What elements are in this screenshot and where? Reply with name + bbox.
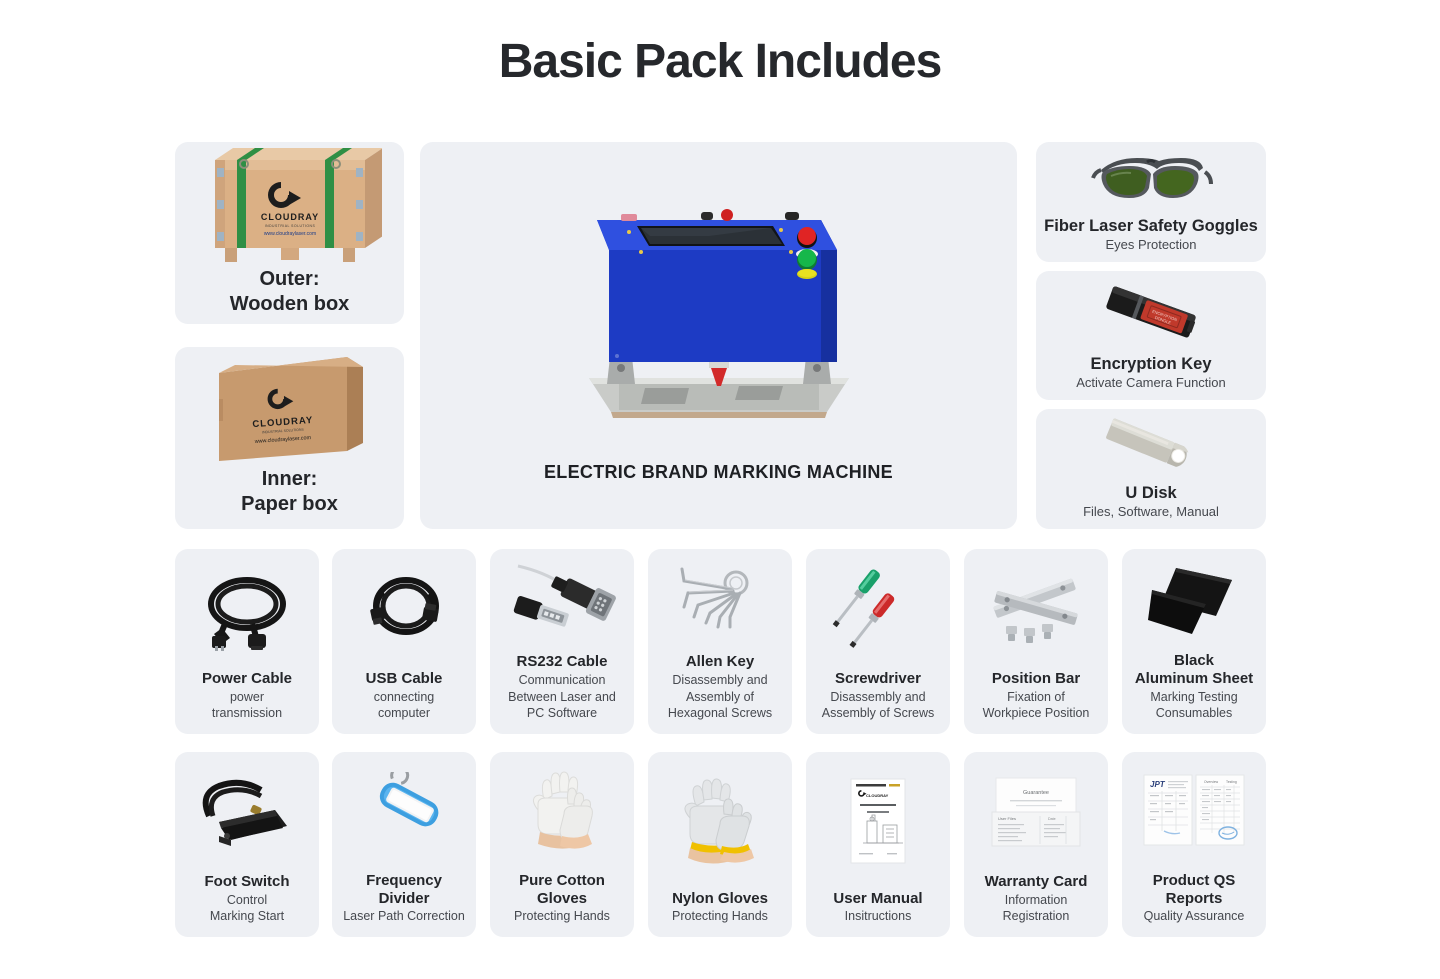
rs232-cable-title: RS232 Cable xyxy=(496,653,628,671)
position-bar-sub1: Fixation of xyxy=(970,690,1102,706)
svg-text:Overview: Overview xyxy=(1204,780,1219,784)
position-bar-sub2: Workpiece Position xyxy=(970,706,1102,722)
foot-switch-sub1: Control xyxy=(181,893,313,909)
card-pure-cotton-gloves[interactable]: Pure Cotton Gloves Protecting Hands xyxy=(490,752,634,937)
card-product-qs-reports[interactable]: JPT Overview Testing xyxy=(1122,752,1266,937)
rs232-cable-sub1: Communication xyxy=(496,673,628,689)
card-inner-paper-box[interactable]: CLOUDRAY INDUSTRIAL SOLUTIONS www.cloudr… xyxy=(175,347,404,529)
svg-text:User Files: User Files xyxy=(998,816,1016,821)
svg-text:JPT: JPT xyxy=(1150,780,1166,789)
pure-cotton-gloves-title-line2: Gloves xyxy=(496,890,628,908)
svg-text:INDUSTRIAL SOLUTIONS: INDUSTRIAL SOLUTIONS xyxy=(265,224,316,228)
black-aluminum-sheet-sub2: Consumables xyxy=(1128,706,1260,722)
product-qs-reports-title-line2: Reports xyxy=(1128,890,1260,908)
card-user-manual[interactable]: CLOUDRAY User Manual Insitructions xyxy=(806,752,950,937)
encryption-key-caption: Encryption Key Activate Camera Function xyxy=(1036,354,1266,401)
user-manual-image: CLOUDRAY xyxy=(806,752,950,890)
card-rs232-cable[interactable]: RS232 Cable Communication Between Laser … xyxy=(490,549,634,734)
page-title: Basic Pack Includes xyxy=(0,34,1440,89)
pure-cotton-gloves-image xyxy=(490,752,634,872)
card-nylon-gloves[interactable]: Nylon Gloves Protecting Hands xyxy=(648,752,792,937)
encryption-key-subtitle: Activate Camera Function xyxy=(1042,375,1260,391)
foot-switch-caption: Foot Switch Control Marking Start xyxy=(175,873,319,937)
inner-paper-box-title-line2: Paper box xyxy=(181,492,398,517)
allen-key-sub3: Hexagonal Screws xyxy=(654,706,786,722)
svg-text:Date: Date xyxy=(1048,817,1056,821)
power-cable-sub2: transmission xyxy=(181,706,313,722)
allen-key-caption: Allen Key Disassembly and Assembly of He… xyxy=(648,653,792,734)
frequency-divider-title-line1: Frequency xyxy=(338,872,470,890)
user-manual-sub1: Insitructions xyxy=(812,909,944,925)
usb-cable-image xyxy=(332,549,476,670)
svg-text:Testing: Testing xyxy=(1226,780,1237,784)
foot-switch-image xyxy=(175,752,319,873)
outer-wooden-box-title-line2: Wooden box xyxy=(181,292,398,317)
card-encryption-key[interactable]: ENCRYPTION DONGLE Encryption Key Activat… xyxy=(1036,271,1266,400)
rs232-cable-caption: RS232 Cable Communication Between Laser … xyxy=(490,653,634,734)
basic-pack-includes-page: Basic Pack Includes xyxy=(0,0,1440,979)
card-frequency-divider[interactable]: Frequency Divider Laser Path Correction xyxy=(332,752,476,937)
usb-cable-sub2: computer xyxy=(338,706,470,722)
product-qs-reports-caption: Product QS Reports Quality Assurance xyxy=(1122,872,1266,937)
frequency-divider-title-line2: Divider xyxy=(338,890,470,908)
power-cable-sub1: power xyxy=(181,690,313,706)
foot-switch-sub2: Marking Start xyxy=(181,909,313,925)
product-qs-reports-sub1: Quality Assurance xyxy=(1128,909,1260,925)
power-cable-image xyxy=(175,549,319,670)
encryption-key-title: Encryption Key xyxy=(1042,354,1260,374)
pure-cotton-gloves-title-line1: Pure Cotton xyxy=(496,872,628,890)
u-disk-image xyxy=(1036,409,1266,483)
inner-paper-box-title-line1: Inner: xyxy=(181,467,398,492)
foot-switch-title: Foot Switch xyxy=(181,873,313,891)
allen-key-sub2: Assembly of xyxy=(654,690,786,706)
card-u-disk[interactable]: U Disk Files, Software, Manual xyxy=(1036,409,1266,529)
inner-paper-box-caption: Inner: Paper box xyxy=(175,467,404,531)
card-power-cable[interactable]: Power Cable power transmission xyxy=(175,549,319,734)
position-bar-image xyxy=(964,549,1108,670)
black-aluminum-sheet-sub1: Marking Testing xyxy=(1128,690,1260,706)
rs232-cable-sub2: Between Laser and xyxy=(496,690,628,706)
warranty-card-sub2: Registration xyxy=(970,909,1102,925)
screwdriver-caption: Screwdriver Disassembly and Assembly of … xyxy=(806,670,950,734)
u-disk-caption: U Disk Files, Software, Manual xyxy=(1036,483,1266,530)
card-fiber-laser-safety-goggles[interactable]: Fiber Laser Safety Goggles Eyes Protecti… xyxy=(1036,142,1266,262)
pure-cotton-gloves-caption: Pure Cotton Gloves Protecting Hands xyxy=(490,872,634,937)
card-position-bar[interactable]: Position Bar Fixation of Workpiece Posit… xyxy=(964,549,1108,734)
frequency-divider-image xyxy=(332,752,476,872)
power-cable-caption: Power Cable power transmission xyxy=(175,670,319,734)
card-foot-switch[interactable]: Foot Switch Control Marking Start xyxy=(175,752,319,937)
frequency-divider-sub1: Laser Path Correction xyxy=(338,909,470,925)
nylon-gloves-caption: Nylon Gloves Protecting Hands xyxy=(648,890,792,937)
screwdriver-sub1: Disassembly and xyxy=(812,690,944,706)
black-aluminum-sheet-title-line1: Black xyxy=(1128,652,1260,670)
black-aluminum-sheet-image xyxy=(1122,549,1266,652)
card-warranty-card[interactable]: Guarantee User Files Date xyxy=(964,752,1108,937)
screwdriver-image xyxy=(806,549,950,670)
allen-key-image xyxy=(648,549,792,653)
usb-cable-sub1: connecting xyxy=(338,690,470,706)
nylon-gloves-title: Nylon Gloves xyxy=(654,890,786,908)
card-screwdriver[interactable]: Screwdriver Disassembly and Assembly of … xyxy=(806,549,950,734)
warranty-card-caption: Warranty Card Information Registration xyxy=(964,873,1108,937)
user-manual-caption: User Manual Insitructions xyxy=(806,890,950,937)
machine-label: ELECTRIC BRAND MARKING MACHINE xyxy=(420,462,1017,529)
goggles-title: Fiber Laser Safety Goggles xyxy=(1042,216,1260,236)
svg-text:CLOUDRAY: CLOUDRAY xyxy=(261,212,319,222)
screwdriver-sub2: Assembly of Screws xyxy=(812,706,944,722)
card-outer-wooden-box[interactable]: CLOUDRAY INDUSTRIAL SOLUTIONS www.cloudr… xyxy=(175,142,404,324)
position-bar-title: Position Bar xyxy=(970,670,1102,688)
nylon-gloves-image xyxy=(648,752,792,890)
rs232-cable-sub3: PC Software xyxy=(496,706,628,722)
u-disk-subtitle: Files, Software, Manual xyxy=(1042,504,1260,520)
black-aluminum-sheet-title-line2: Aluminum Sheet xyxy=(1128,670,1260,688)
warranty-card-sub1: Information xyxy=(970,893,1102,909)
power-cable-title: Power Cable xyxy=(181,670,313,688)
nylon-gloves-sub1: Protecting Hands xyxy=(654,909,786,925)
wooden-box-image: CLOUDRAY INDUSTRIAL SOLUTIONS www.cloudr… xyxy=(175,142,404,267)
allen-key-sub1: Disassembly and xyxy=(654,673,786,689)
pure-cotton-gloves-sub1: Protecting Hands xyxy=(496,909,628,925)
rs232-cable-image xyxy=(490,549,634,653)
screwdriver-title: Screwdriver xyxy=(812,670,944,688)
frequency-divider-caption: Frequency Divider Laser Path Correction xyxy=(332,872,476,937)
card-usb-cable[interactable]: USB Cable connecting computer xyxy=(332,549,476,734)
position-bar-caption: Position Bar Fixation of Workpiece Posit… xyxy=(964,670,1108,734)
goggles-caption: Fiber Laser Safety Goggles Eyes Protecti… xyxy=(1036,216,1266,263)
usb-cable-caption: USB Cable connecting computer xyxy=(332,670,476,734)
warranty-card-title: Warranty Card xyxy=(970,873,1102,891)
u-disk-title: U Disk xyxy=(1042,483,1260,503)
card-allen-key[interactable]: Allen Key Disassembly and Assembly of He… xyxy=(648,549,792,734)
goggles-image xyxy=(1036,142,1266,216)
allen-key-title: Allen Key xyxy=(654,653,786,671)
marking-machine-image xyxy=(420,142,1017,462)
card-electric-brand-marking-machine[interactable]: ELECTRIC BRAND MARKING MACHINE xyxy=(420,142,1017,529)
paper-box-image: CLOUDRAY INDUSTRIAL SOLUTIONS www.cloudr… xyxy=(175,347,404,467)
svg-text:CLOUDRAY: CLOUDRAY xyxy=(866,793,889,798)
warranty-card-image: Guarantee User Files Date xyxy=(964,752,1108,873)
product-qs-reports-image: JPT Overview Testing xyxy=(1122,752,1266,872)
product-qs-reports-title-line1: Product QS xyxy=(1128,872,1260,890)
svg-text:Guarantee: Guarantee xyxy=(1023,790,1049,796)
black-aluminum-sheet-caption: Black Aluminum Sheet Marking Testing Con… xyxy=(1122,652,1266,734)
goggles-subtitle: Eyes Protection xyxy=(1042,237,1260,253)
usb-cable-title: USB Cable xyxy=(338,670,470,688)
outer-wooden-box-title-line1: Outer: xyxy=(181,267,398,292)
encryption-key-image: ENCRYPTION DONGLE xyxy=(1036,271,1266,354)
card-black-aluminum-sheet[interactable]: Black Aluminum Sheet Marking Testing Con… xyxy=(1122,549,1266,734)
user-manual-title: User Manual xyxy=(812,890,944,908)
outer-wooden-box-caption: Outer: Wooden box xyxy=(175,267,404,331)
svg-text:www.cloudraylaser.com: www.cloudraylaser.com xyxy=(264,231,316,237)
